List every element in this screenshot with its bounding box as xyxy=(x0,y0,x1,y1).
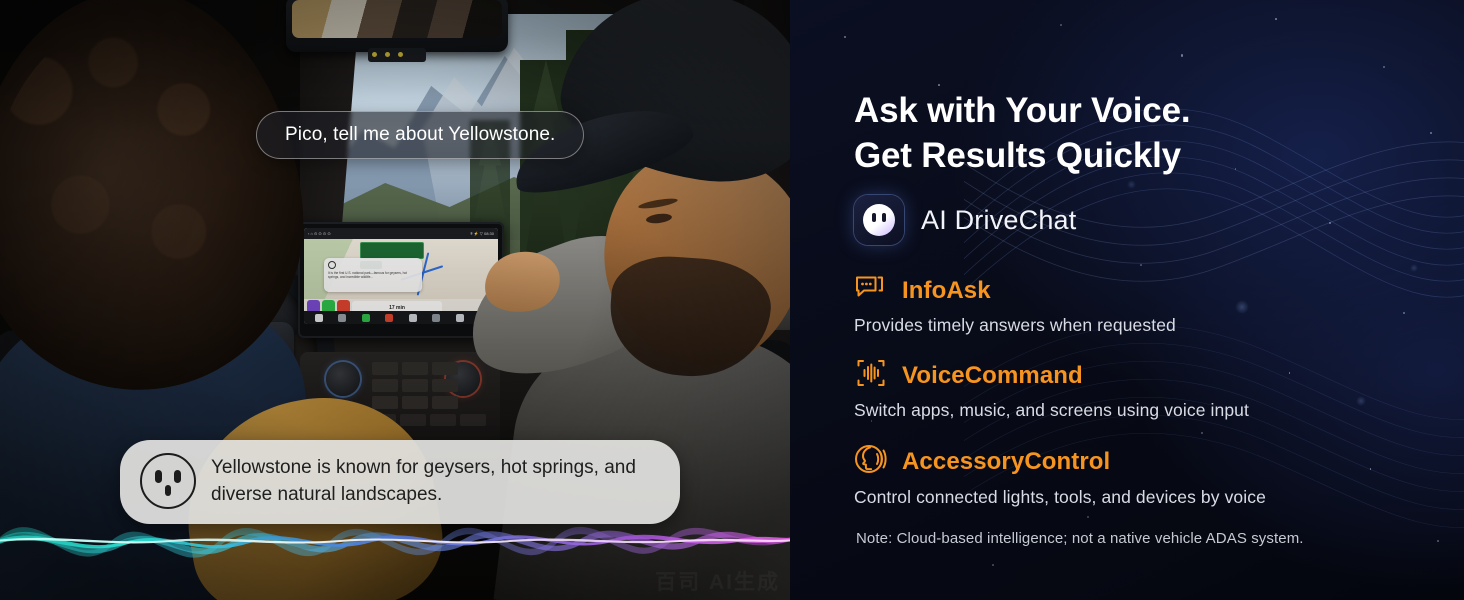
feature-title: VoiceCommand xyxy=(902,362,1083,390)
rearview-mirror xyxy=(286,0,508,52)
feature-title: AccessoryControl xyxy=(902,448,1110,476)
head-soundwave-icon xyxy=(854,443,888,480)
feature-title: InfoAsk xyxy=(902,277,991,305)
feature-list: InfoAsk Provides timely answers when req… xyxy=(854,273,1464,508)
assistant-face-icon xyxy=(140,453,196,509)
voice-waveform-icon xyxy=(854,358,888,393)
headline-line-1: Ask with Your Voice. xyxy=(854,91,1190,130)
product-feature-banner: ‹ ⌂ ⊙ ⊙ ⊙ ⊙ ⌾ ⚡ ▽ 08:30 It is the first … xyxy=(0,0,1464,600)
mirror-indicator-lights xyxy=(372,52,403,57)
feature-description: Switch apps, music, and screens using vo… xyxy=(854,400,1464,421)
speech-bubble-question: Pico, tell me about Yellowstone. xyxy=(256,111,584,159)
head-unit-screen[interactable]: ‹ ⌂ ⊙ ⊙ ⊙ ⊙ ⌾ ⚡ ▽ 08:30 It is the first … xyxy=(304,228,498,324)
feature-info-panel: Ask with Your Voice. Get Results Quickly… xyxy=(790,0,1464,600)
climate-knob-left[interactable] xyxy=(326,362,360,396)
statusbar-clock: ⌾ ⚡ ▽ 08:30 xyxy=(470,231,494,236)
image-watermark: 百司 AI生成 xyxy=(655,566,780,596)
feature-item-infoask: InfoAsk Provides timely answers when req… xyxy=(854,273,1464,336)
assistant-popup: It is the first U.S. national park—famou… xyxy=(324,258,422,292)
ai-drivechat-app-icon xyxy=(854,195,904,245)
headline-line-2: Get Results Quickly xyxy=(854,136,1181,175)
head-unit-dock[interactable] xyxy=(304,311,498,324)
assistant-face-icon xyxy=(328,261,336,269)
brand-row: AI DriveChat xyxy=(854,195,1464,245)
speech-bubble-icon xyxy=(854,273,888,308)
feature-item-voicecommand: VoiceCommand Switch apps, music, and scr… xyxy=(854,358,1464,421)
mirror-glass xyxy=(292,0,502,38)
statusbar-left-icons: ‹ ⌂ ⊙ ⊙ ⊙ ⊙ xyxy=(308,231,331,236)
feature-description: Provides timely answers when requested xyxy=(854,315,1464,336)
speech-bubble-answer-text: Yellowstone is known for geysers, hot sp… xyxy=(211,454,660,508)
assistant-popup-text: It is the first U.S. national park—famou… xyxy=(328,271,419,280)
nav-direction-banner xyxy=(360,242,424,259)
head-unit-statusbar: ‹ ⌂ ⊙ ⊙ ⊙ ⊙ ⌾ ⚡ ▽ 08:30 xyxy=(304,228,498,239)
feature-description: Control connected lights, tools, and dev… xyxy=(854,487,1464,508)
disclaimer-note: Note: Cloud-based intelligence; not a na… xyxy=(854,530,1464,547)
page-title: Ask with Your Voice. Get Results Quickly xyxy=(854,88,1464,178)
feature-item-accessorycontrol: AccessoryControl Control connected light… xyxy=(854,443,1464,508)
assistant-face-icon xyxy=(863,204,895,236)
brand-name: AI DriveChat xyxy=(921,205,1076,236)
speech-bubble-answer: Yellowstone is known for geysers, hot sp… xyxy=(120,440,680,524)
climate-button-grid[interactable] xyxy=(372,362,458,409)
